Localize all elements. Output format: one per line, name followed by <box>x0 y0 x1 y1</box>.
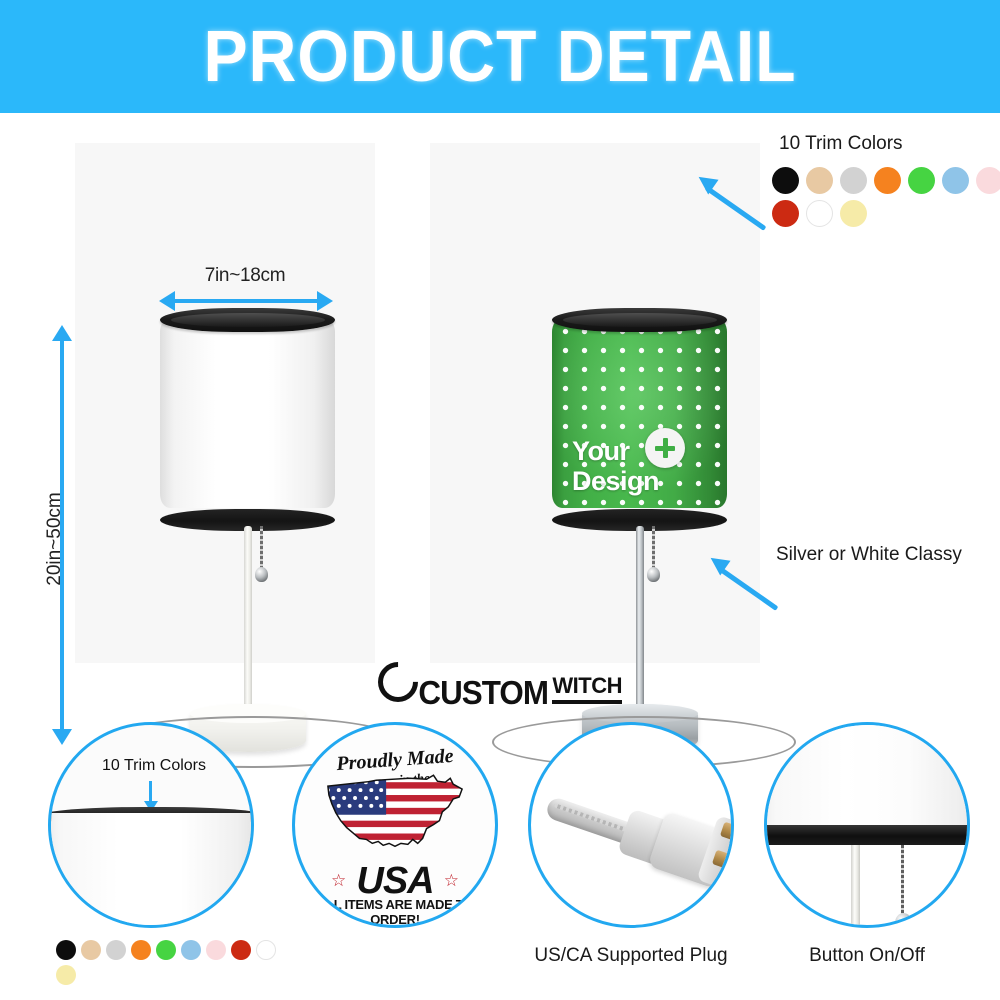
swatch-green[interactable] <box>908 167 935 194</box>
brand-name-secondary: WITCH <box>552 673 622 704</box>
swatch-light-gray[interactable] <box>106 940 126 960</box>
swatch-pink[interactable] <box>976 167 1000 194</box>
arrow-up-icon <box>52 325 72 341</box>
product-detail-page: PRODUCT DETAIL 7in~18cm 20in~50cm <box>0 0 1000 1000</box>
swatch-yellow[interactable] <box>840 200 867 227</box>
swatch-white[interactable] <box>256 940 276 960</box>
lamp-custom-design: Your Design <box>552 308 727 638</box>
swatch-yellow[interactable] <box>56 965 76 985</box>
lamp-pole <box>851 845 860 928</box>
showcase-area: 7in~18cm 20in~50cm <box>0 113 1000 658</box>
trim-bar <box>764 825 970 845</box>
swatch-orange[interactable] <box>131 940 151 960</box>
swatch-green[interactable] <box>156 940 176 960</box>
width-dimension-label: 7in~18cm <box>165 265 325 287</box>
swatch-white[interactable] <box>806 200 833 227</box>
feature-trim-swatches <box>56 940 286 990</box>
lamp-white <box>160 308 335 638</box>
trim-inner <box>171 313 325 327</box>
swatch-red[interactable] <box>772 200 799 227</box>
shade-closeup <box>764 722 970 829</box>
swatch-black[interactable] <box>772 167 799 194</box>
lampshade-surface <box>160 318 335 508</box>
header-banner: PRODUCT DETAIL <box>0 0 1000 113</box>
trim-colors-label: 10 Trim Colors <box>779 133 903 155</box>
caption-plug: US/CA Supported Plug <box>500 945 762 967</box>
feature-circle-trim-colors: 10 Trim Colors <box>48 722 254 928</box>
pull-chain[interactable] <box>652 526 655 571</box>
swatch-tan[interactable] <box>806 167 833 194</box>
trim-colors-inner-label: 10 Trim Colors <box>79 757 229 775</box>
pull-chain-bead[interactable] <box>255 567 268 582</box>
design-line-2: Design <box>572 466 727 496</box>
plus-icon[interactable] <box>645 428 685 468</box>
lampshade-surface: Your Design <box>552 318 727 508</box>
trim-top <box>552 308 727 332</box>
trim-inner <box>563 313 717 327</box>
base-finish-label: Silver or White Classy <box>776 544 962 566</box>
star-right-icon: ☆ <box>444 871 459 891</box>
swatch-light-gray[interactable] <box>840 167 867 194</box>
pull-chain[interactable] <box>901 845 904 917</box>
shade-closeup <box>48 813 254 928</box>
trim-top <box>160 308 335 332</box>
lampshade-green: Your Design <box>552 308 727 523</box>
swatch-tan[interactable] <box>81 940 101 960</box>
page-title: PRODUCT DETAIL <box>40 20 960 94</box>
swatch-pink[interactable] <box>206 940 226 960</box>
usa-map-flag-icon <box>321 769 469 861</box>
usa-made-to-order: ALL ITEMS ARE MADE TO ORDER! <box>295 897 495 927</box>
swatch-light-blue[interactable] <box>181 940 201 960</box>
brand-name-primary: CUSTOM <box>418 674 548 712</box>
swatch-black[interactable] <box>56 940 76 960</box>
width-dimension-line <box>172 299 320 303</box>
arrow-down-icon <box>52 729 72 745</box>
pull-chain[interactable] <box>260 526 263 571</box>
brand-logo: CUSTOMWITCH <box>0 662 1000 712</box>
down-arrow-shaft <box>149 781 152 803</box>
pull-chain-bead[interactable] <box>895 913 912 928</box>
trim-color-swatches <box>772 167 1000 233</box>
pull-chain-bead[interactable] <box>647 567 660 582</box>
swatch-red[interactable] <box>231 940 251 960</box>
lampshade-white <box>160 308 335 523</box>
feature-circle-plug <box>528 722 734 928</box>
swatch-light-blue[interactable] <box>942 167 969 194</box>
feature-circle-switch <box>764 722 970 928</box>
swatch-orange[interactable] <box>874 167 901 194</box>
feature-circle-made-in-usa: Proudly Made in the <box>292 722 498 928</box>
caption-switch: Button On/Off <box>736 945 998 967</box>
design-placeholder-text: Your Design <box>552 436 727 496</box>
